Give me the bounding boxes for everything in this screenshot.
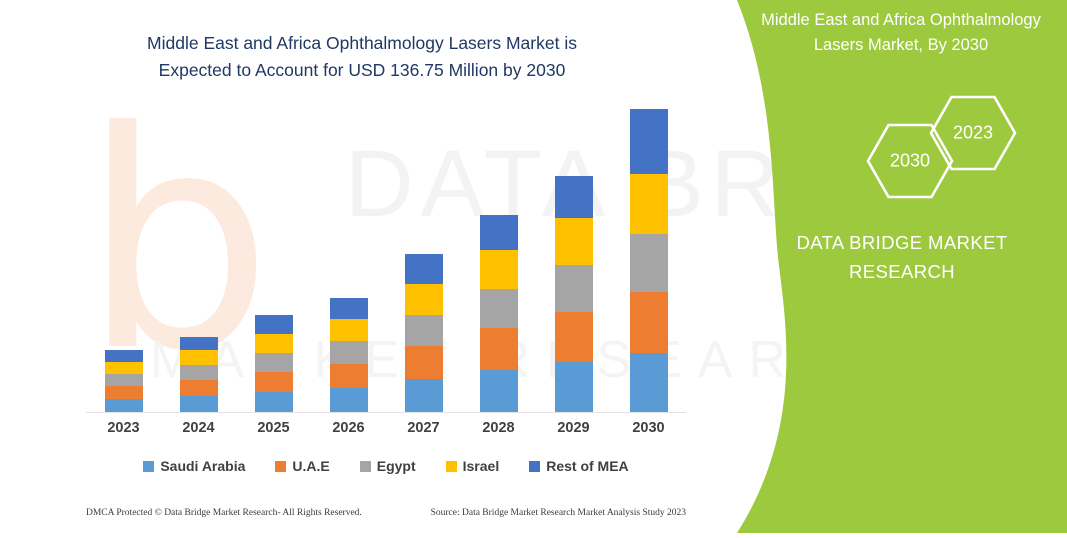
- bar-segment[interactable]: [405, 284, 443, 315]
- footer-source: Source: Data Bridge Market Research Mark…: [431, 508, 686, 518]
- x-axis-tick-2023: 2023: [86, 420, 161, 442]
- bar-segment[interactable]: [330, 341, 368, 364]
- stacked-bar[interactable]: [105, 350, 143, 412]
- bar-segment[interactable]: [105, 350, 143, 362]
- x-axis-tick-2030: 2030: [611, 420, 686, 442]
- bar-slot-2023: [86, 110, 161, 412]
- bar-segment[interactable]: [405, 346, 443, 379]
- panel-title: Middle East and Africa Ophthalmology Las…: [741, 8, 1061, 58]
- footer-copyright: DMCA Protected © Data Bridge Market Rese…: [86, 508, 362, 518]
- bar-segment[interactable]: [330, 388, 368, 412]
- bar-segment[interactable]: [255, 315, 293, 334]
- bar-segment[interactable]: [630, 292, 668, 353]
- bar-segment[interactable]: [255, 372, 293, 392]
- stacked-bar[interactable]: [255, 315, 293, 412]
- bar-segment[interactable]: [480, 250, 518, 289]
- legend-item[interactable]: Rest of MEA: [529, 458, 628, 474]
- legend-label: Saudi Arabia: [160, 458, 245, 474]
- chart-legend: Saudi ArabiaU.A.EEgyptIsraelRest of MEA: [86, 454, 686, 478]
- bar-segment[interactable]: [255, 392, 293, 412]
- bar-segment[interactable]: [630, 353, 668, 412]
- bar-slot-2026: [311, 110, 386, 412]
- bar-segment[interactable]: [630, 109, 668, 174]
- brand-name: DATA BRIDGE MARKET RESEARCH: [767, 228, 1037, 286]
- brand-line-1: DATA BRIDGE MARKET: [767, 228, 1037, 257]
- bar-slot-2029: [536, 110, 611, 412]
- bar-segment[interactable]: [105, 386, 143, 399]
- bar-segment[interactable]: [555, 176, 593, 218]
- legend-swatch-icon: [446, 461, 457, 472]
- stacked-bar[interactable]: [405, 254, 443, 412]
- bar-segment[interactable]: [105, 362, 143, 374]
- branding-panel: Middle East and Africa Ophthalmology Las…: [707, 0, 1067, 533]
- bar-segment[interactable]: [180, 337, 218, 350]
- bar-segment[interactable]: [480, 289, 518, 328]
- plot-area: [86, 110, 686, 413]
- brand-line-2: RESEARCH: [767, 257, 1037, 286]
- legend-label: Israel: [463, 458, 500, 474]
- x-axis-tick-2027: 2027: [386, 420, 461, 442]
- legend-swatch-icon: [143, 461, 154, 472]
- chart-title: Middle East and Africa Ophthalmology Las…: [62, 30, 662, 84]
- bar-segment[interactable]: [330, 364, 368, 388]
- bar-segment[interactable]: [180, 350, 218, 365]
- legend-item[interactable]: Egypt: [360, 458, 416, 474]
- legend-label: Egypt: [377, 458, 416, 474]
- legend-swatch-icon: [360, 461, 371, 472]
- bar-segment[interactable]: [630, 234, 668, 292]
- hexagon-2023-label: 2023: [930, 123, 1016, 144]
- x-axis-tick-2024: 2024: [161, 420, 236, 442]
- bar-slot-2025: [236, 110, 311, 412]
- bar-segment[interactable]: [405, 254, 443, 284]
- bar-segment[interactable]: [330, 298, 368, 319]
- bar-segment[interactable]: [555, 265, 593, 312]
- bar-segment[interactable]: [630, 174, 668, 234]
- bar-segment[interactable]: [405, 315, 443, 346]
- bar-segment[interactable]: [480, 370, 518, 412]
- bar-segment[interactable]: [480, 215, 518, 250]
- bar-segment[interactable]: [555, 312, 593, 362]
- stacked-bar[interactable]: [630, 109, 668, 412]
- x-axis-tick-2025: 2025: [236, 420, 311, 442]
- bar-segment[interactable]: [180, 380, 218, 396]
- bar-segment[interactable]: [180, 396, 218, 412]
- stacked-bar[interactable]: [555, 176, 593, 412]
- legend-label: Rest of MEA: [546, 458, 628, 474]
- hexagon-group: 2030 2023: [817, 95, 1047, 205]
- bar-segment[interactable]: [555, 218, 593, 265]
- hexagon-2023: 2023: [930, 95, 1016, 171]
- bar-segment[interactable]: [105, 374, 143, 386]
- bar-segment[interactable]: [255, 334, 293, 353]
- x-axis-tick-2028: 2028: [461, 420, 536, 442]
- chart-title-line-2: Expected to Account for USD 136.75 Milli…: [62, 57, 662, 84]
- stacked-bar[interactable]: [480, 215, 518, 412]
- bar-slot-2030: [611, 110, 686, 412]
- legend-swatch-icon: [529, 461, 540, 472]
- x-axis-tick-2026: 2026: [311, 420, 386, 442]
- x-axis-labels: 20232024202520262027202820292030: [86, 420, 686, 442]
- legend-item[interactable]: Israel: [446, 458, 500, 474]
- footer: DMCA Protected © Data Bridge Market Rese…: [86, 508, 686, 518]
- legend-swatch-icon: [275, 461, 286, 472]
- panel-title-line-2: Lasers Market, By 2030: [741, 33, 1061, 58]
- bar-segment[interactable]: [480, 328, 518, 370]
- bar-segment[interactable]: [105, 399, 143, 412]
- bar-slot-2027: [386, 110, 461, 412]
- bar-slot-2024: [161, 110, 236, 412]
- panel-title-line-1: Middle East and Africa Ophthalmology: [741, 8, 1061, 33]
- bar-slot-2028: [461, 110, 536, 412]
- chart-title-line-1: Middle East and Africa Ophthalmology Las…: [62, 30, 662, 57]
- bar-segment[interactable]: [330, 319, 368, 341]
- x-axis-tick-2029: 2029: [536, 420, 611, 442]
- bar-segment[interactable]: [555, 362, 593, 412]
- stacked-bar[interactable]: [330, 298, 368, 412]
- bar-group: [86, 110, 686, 412]
- bar-segment[interactable]: [405, 379, 443, 412]
- chart-panel: Middle East and Africa Ophthalmology Las…: [0, 0, 720, 533]
- bar-segment[interactable]: [180, 365, 218, 380]
- legend-item[interactable]: U.A.E: [275, 458, 329, 474]
- stacked-bar[interactable]: [180, 337, 218, 412]
- legend-label: U.A.E: [292, 458, 329, 474]
- axis-baseline: [86, 412, 686, 413]
- legend-item[interactable]: Saudi Arabia: [143, 458, 245, 474]
- bar-segment[interactable]: [255, 353, 293, 372]
